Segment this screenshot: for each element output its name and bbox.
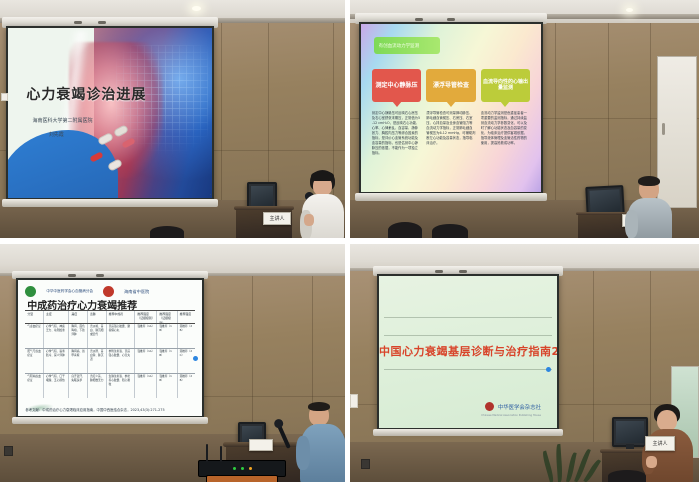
presenter-nameplate xyxy=(249,439,273,451)
table-header-cell: 推荐中成药 xyxy=(107,311,136,323)
screen-mount-knob xyxy=(98,21,106,24)
presenter-hair xyxy=(638,176,660,186)
projection-screen: 有创血流动力学监测 测定中心静脉压 测定中心静脉压可反映右心房压及右心室舒张末期… xyxy=(359,22,543,194)
presenter-figure xyxy=(300,402,345,482)
slide-columns: 测定中心静脉压 测定中心静脉压可反映右心房压及右心室舒张末期压，正常值为5-12… xyxy=(372,69,530,180)
panel-bottom-left[interactable]: 中华中医药学会心血管病分会 海南省中医院 中成药治疗心力衰竭推荐 分型 主症 兼… xyxy=(0,244,345,482)
table-row: 阳气亏虚血瘀证 心悸气短、畏寒肢冷、尿少浮肿 胸闷痛、唇甲青紫 舌淡胖、苔白滑、… xyxy=(25,349,194,374)
table-cell: 弱推荐（2B） xyxy=(178,374,195,398)
chip-label: 漂浮导管检查 xyxy=(433,82,469,90)
presenter-arm xyxy=(625,210,638,238)
table-cell: 芪苈强心胶囊、麝香保心丸 xyxy=(107,324,136,348)
column-body-text: 漂浮导管检查可测量肺动脉压、肺毛细血管楔压、右房压、右室压、心排血量及全身血管阻… xyxy=(426,111,475,181)
table-header-cell: 推荐强度 xyxy=(178,311,195,323)
table-row: 气虚血瘀证 心悸气短、神疲乏力、动则加重 胸闷、面色晦暗、下肢浮肿 舌淡暗、苔白… xyxy=(25,324,194,349)
audience-head xyxy=(432,224,468,238)
projection-screen-area: 中华中医药学会心血管病分会 海南省中医院 中成药治疗心力衰竭推荐 分型 主症 兼… xyxy=(16,278,204,418)
panel-bottom-right[interactable]: 中国心力衰竭基层诊断与治疗指南2024 中华医学会杂志社 Chinese Med… xyxy=(350,244,699,482)
digital-mesh-graphic xyxy=(116,45,208,164)
slide-org-logos: 中华中医药学会心血管病分会 海南省中医院 xyxy=(25,285,157,297)
table-cell: 气阴两虚血瘀证 xyxy=(25,374,44,398)
slide-guideline-2024: 中国心力衰竭基层诊断与治疗指南2024 中华医学会杂志社 Chinese Med… xyxy=(379,276,557,428)
recommendation-table: 分型 主症 兼症 舌脉 推荐中成药 推荐强度（证据级别） 推荐强度（证据级别） … xyxy=(25,311,194,398)
screen-bottom-bar xyxy=(12,417,208,423)
table-cell: 自汗盗汗、失眠多梦 xyxy=(69,374,88,398)
status-led-icon xyxy=(241,467,244,470)
column-body-text: 测定中心静脉压可反映右心房压及右心室舒张末期压，正常值为5-12 cmH₂O，是… xyxy=(372,111,421,181)
table-header-row: 分型 主症 兼症 舌脉 推荐中成药 推荐强度（证据级别） 推荐强度（证据级别） … xyxy=(25,311,194,324)
screen-bottom-bar xyxy=(2,199,218,207)
presenter-hand xyxy=(646,456,657,468)
slide-column: 测定中心静脉压 测定中心静脉压可反映右心房压及右心室舒张末期压，正常值为5-12… xyxy=(372,69,421,180)
table-cell: 强推荐（1A） xyxy=(135,374,157,398)
publisher-logo-icon xyxy=(485,402,494,411)
table-cell: 强推荐（1A） xyxy=(135,349,157,373)
org-name-right: 海南省中医院 xyxy=(124,289,149,295)
table-cell: 气虚血瘀证 xyxy=(25,324,44,348)
antenna xyxy=(206,444,208,462)
presenter-figure xyxy=(627,176,673,238)
downlight-icon xyxy=(626,8,633,12)
society-logo-icon xyxy=(25,286,36,297)
projection-screen-area: 中国心力衰竭基层诊断与治疗指南2024 中华医学会杂志社 Chinese Med… xyxy=(377,274,559,430)
slide-title: 中国心力衰竭基层诊断与治疗指南2024 xyxy=(379,343,557,359)
wall-panel xyxy=(350,394,358,408)
slide-subtitle-org: 海南医科大学第二附属医院 xyxy=(32,118,92,126)
table-header-cell: 推荐强度（证据级别） xyxy=(135,311,157,323)
table-cell: 胸闷痛、唇甲青紫 xyxy=(69,349,88,373)
status-led-icon xyxy=(249,467,252,470)
floor-equipment xyxy=(206,475,278,482)
column-chip-heading: 漂浮导管检查 xyxy=(426,69,475,101)
table-cell: 强推荐（1B） xyxy=(157,374,177,398)
laptop-screen xyxy=(589,189,620,213)
audience-head xyxy=(388,222,422,238)
column-chip-heading: 测定中心静脉压 xyxy=(372,69,421,101)
nameplate-text xyxy=(260,443,261,448)
podium-top xyxy=(234,206,294,210)
table-cell: 弱推荐（2C） xyxy=(178,349,195,373)
screen-mount-knob xyxy=(435,270,443,273)
presenter-hair-front xyxy=(311,171,334,181)
audience-head xyxy=(608,470,646,482)
table-row: 气阴两虚血瘀证 心悸气短、口干咽燥、五心烦热 自汗盗汗、失眠多梦 舌红少苔、脉细… xyxy=(25,374,194,398)
screen-mount-knob xyxy=(74,21,82,24)
slide-rule xyxy=(384,335,551,336)
table-cell: 生脉注射液、参松养心胶囊、稳心颗粒 xyxy=(107,374,136,398)
slide-footnote: 参考文献：中成药治疗心力衰竭临床应用指南，中国中西医结合杂志，2023,43(3… xyxy=(25,407,194,412)
nameplate-text: 主讲人 xyxy=(652,440,667,447)
slide-subtitle-name: 刘先霞 xyxy=(49,132,64,140)
status-led-icon xyxy=(233,467,236,470)
wall-fixture xyxy=(1,93,8,101)
hospital-logo-icon xyxy=(103,286,114,297)
photo-collage-grid: 心力衰竭诊治进展 海南医科大学第二附属医院 刘先霞 · 主讲人 xyxy=(0,0,699,482)
presenter-arm xyxy=(296,436,310,470)
wall-outlet xyxy=(361,459,370,469)
table-cell: 参附注射液、芪苈强心胶囊、心宝丸 xyxy=(107,349,136,373)
presenter-head xyxy=(657,410,677,431)
screen-mount-knob xyxy=(447,18,455,21)
panel-top-left[interactable]: 心力衰竭诊治进展 海南医科大学第二附属医院 刘先霞 · 主讲人 xyxy=(0,0,345,238)
projection-screen: 心力衰竭诊治进展 海南医科大学第二附属医院 刘先霞 · xyxy=(6,26,214,200)
table-cell: 强推荐（1A） xyxy=(135,324,157,348)
presenter-nameplate: 主讲人 xyxy=(645,436,675,451)
screen-mount-knob xyxy=(415,18,423,21)
presenter-monitor xyxy=(612,417,648,447)
slide-hemodynamic-monitoring: 有创血流动力学监测 测定中心静脉压 测定中心静脉压可反映右心房压及右心室舒张末期… xyxy=(361,24,541,192)
projection-screen-area: 有创血流动力学监测 测定中心静脉压 测定中心静脉压可反映右心房压及右心室舒张末期… xyxy=(359,22,543,194)
table-cell: 舌红少苔、脉细数无力 xyxy=(88,374,107,398)
table-cell: 舌淡暗、苔白、脉沉细或结代 xyxy=(88,324,107,348)
publisher-logo: 中华医学会杂志社 xyxy=(485,402,541,411)
laser-pointer-dot xyxy=(193,356,198,361)
slide-rule xyxy=(384,317,551,318)
table-header-cell: 推荐强度（证据级别） xyxy=(157,311,177,323)
column-chip-heading: 血流导向性的心输出量监测 xyxy=(481,69,530,101)
presenter-figure xyxy=(300,170,345,238)
table-header-cell: 兼症 xyxy=(69,311,88,323)
slide-banner: 有创血流动力学监测 xyxy=(374,37,441,54)
projection-screen: 中华中医药学会心血管病分会 海南省中医院 中成药治疗心力衰竭推荐 分型 主症 兼… xyxy=(16,278,204,418)
publisher-name: 中华医学会杂志社 xyxy=(498,403,541,411)
presenter-hair xyxy=(308,402,330,411)
table-header-cell: 主症 xyxy=(44,311,69,323)
screen-bottom-bar xyxy=(373,429,562,436)
table-cell: 心悸气短、口干咽燥、五心烦热 xyxy=(44,374,69,398)
door-handle-icon[interactable] xyxy=(662,123,665,135)
projection-screen-area: 心力衰竭诊治进展 海南医科大学第二附属医院 刘先霞 · xyxy=(6,26,214,200)
table-cell: 强推荐（1B） xyxy=(157,324,177,348)
org-name-left: 中华中医药学会心血管病分会 xyxy=(46,289,93,294)
slide-column: 漂浮导管检查 漂浮导管检查可测量肺动脉压、肺毛细血管楔压、右房压、右室压、心排血… xyxy=(426,69,475,180)
monitor-screen xyxy=(251,186,273,206)
slide-title: 心力衰竭诊治进展 xyxy=(26,84,146,104)
publisher-subname: Chinese Medical Association Publishing H… xyxy=(481,414,541,417)
table-cell: 弱推荐（2B） xyxy=(178,324,195,348)
table-cell: 阳气亏虚血瘀证 xyxy=(25,349,44,373)
slide-banner-text: 有创血流动力学监测 xyxy=(379,43,420,49)
monitor-screen xyxy=(616,421,644,443)
screen-mount-knob xyxy=(459,270,467,273)
panel-top-right[interactable]: 有创血流动力学监测 测定中心静脉压 测定中心静脉压可反映右心房压及右心室舒张末期… xyxy=(350,0,699,238)
table-cell: 胸闷、面色晦暗、下肢浮肿 xyxy=(69,324,88,348)
presenter-nameplate: 主讲人 xyxy=(263,212,291,225)
screen-mount-knob xyxy=(68,274,76,277)
audience-head xyxy=(150,226,184,238)
wall-outlet xyxy=(4,446,13,456)
slide-column: 血流导向性的心输出量监测 血流动力学监测是危重症患者一项重要的监测指标，通过持续… xyxy=(481,69,530,180)
projection-screen: 中国心力衰竭基层诊断与治疗指南2024 中华医学会杂志社 Chinese Med… xyxy=(377,274,559,430)
table-cell: 强推荐（1B） xyxy=(157,349,177,373)
table-cell: 心悸气短、畏寒肢冷、尿少浮肿 xyxy=(44,349,69,373)
table-cell: 心悸气短、神疲乏力、动则加重 xyxy=(44,324,69,348)
screen-mount-knob xyxy=(96,274,104,277)
slide-title-heart-failure: 心力衰竭诊治进展 海南医科大学第二附属医院 刘先霞 · xyxy=(8,28,212,198)
nameplate-text: 主讲人 xyxy=(269,215,284,222)
chip-label: 测定中心静脉压 xyxy=(376,82,418,90)
slide-rule xyxy=(384,369,551,370)
table-cell: 舌淡胖、苔白滑、脉沉迟 xyxy=(88,349,107,373)
table-header-cell: 舌脉 xyxy=(88,311,107,323)
slide-tcm-recommendation-table: 中华中医药学会心血管病分会 海南省中医院 中成药治疗心力衰竭推荐 分型 主症 兼… xyxy=(18,280,202,416)
chip-label: 血流导向性的心输出量监测 xyxy=(483,79,528,92)
laser-pointer-dot xyxy=(546,367,551,372)
downlight-icon xyxy=(192,6,201,11)
column-body-text: 血流动力学监测是危重症患者一项重要的监测指标，通过持续监测血流动力学参数变化，可… xyxy=(481,111,530,181)
slide-page-number: · xyxy=(210,192,211,197)
presenter-hand xyxy=(304,214,314,226)
screen-bottom-bar xyxy=(355,193,546,201)
table-header-cell: 分型 xyxy=(25,311,44,323)
antenna xyxy=(220,446,222,462)
